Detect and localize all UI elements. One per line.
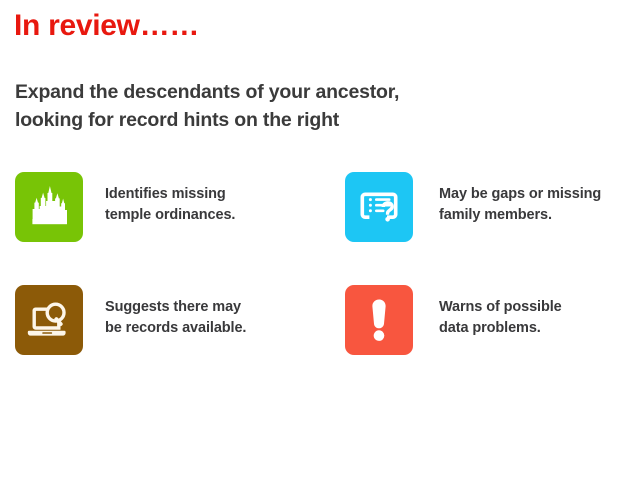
slide-canvas: In review…… Expand the descendants of yo… — [0, 0, 638, 479]
legend-text-records-available-line1: Suggests there may — [105, 297, 246, 318]
legend-text-temple-line1: Identifies missing — [105, 184, 235, 205]
exclamation-icon-tile — [345, 285, 413, 355]
legend-text-record-hint: May be gaps or missing family members. — [439, 172, 601, 226]
legend-text-data-problems-line2: data problems. — [439, 318, 562, 339]
legend-grid: Identifies missing temple ordinances. — [0, 168, 638, 383]
legend-text-temple-line2: temple ordinances. — [105, 205, 235, 226]
legend-text-record-hint-line1: May be gaps or missing — [439, 184, 601, 205]
legend-text-record-hint-line2: family members. — [439, 205, 601, 226]
subtitle-line-1: Expand the descendants of your ancestor, — [15, 78, 399, 106]
record-hint-question-icon — [357, 185, 401, 229]
slide-subtitle: Expand the descendants of your ancestor,… — [15, 78, 399, 134]
legend-item-temple: Identifies missing temple ordinances. — [15, 172, 235, 242]
legend-text-temple: Identifies missing temple ordinances. — [105, 172, 235, 226]
legend-item-records-available: Suggests there may be records available. — [15, 285, 246, 355]
legend-text-records-available: Suggests there may be records available. — [105, 285, 246, 339]
record-hint-icon-tile — [345, 172, 413, 242]
subtitle-line-2: looking for record hints on the right — [15, 106, 399, 134]
temple-icon — [27, 184, 71, 230]
legend-text-data-problems: Warns of possible data problems. — [439, 285, 562, 339]
legend-text-records-available-line2: be records available. — [105, 318, 246, 339]
legend-item-record-hint: May be gaps or missing family members. — [345, 172, 601, 242]
page-title: In review…… — [14, 8, 199, 44]
temple-icon-tile — [15, 172, 83, 242]
legend-text-data-problems-line1: Warns of possible — [439, 297, 562, 318]
laptop-search-icon-tile — [15, 285, 83, 355]
legend-item-data-problems: Warns of possible data problems. — [345, 285, 562, 355]
laptop-search-icon — [26, 299, 72, 341]
exclamation-warning-icon — [366, 297, 392, 343]
